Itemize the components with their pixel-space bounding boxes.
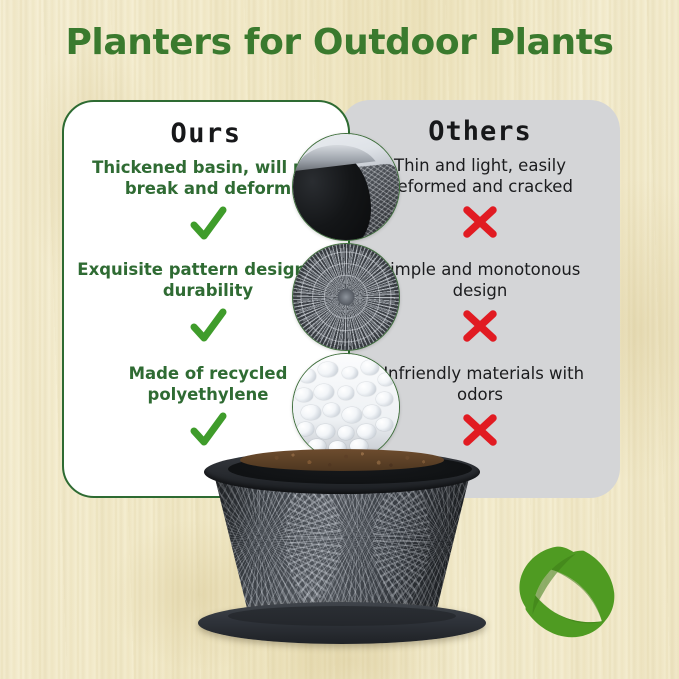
pellet [338, 386, 355, 400]
pellet [314, 384, 334, 400]
leaf-top-right [550, 551, 614, 624]
pot-saucer [198, 602, 486, 644]
pellet [318, 362, 337, 377]
infographic-canvas: Planters for Outdoor Plants Others Thin … [0, 0, 679, 679]
pellet [361, 360, 379, 375]
pellet [357, 424, 376, 439]
pellet [357, 382, 376, 397]
recycle-leaves-logo [509, 533, 627, 651]
weave-center [338, 289, 355, 306]
pellet [295, 388, 313, 402]
pellet [323, 403, 340, 417]
pellet [376, 418, 393, 432]
pellet [338, 426, 355, 440]
check-icon [185, 306, 231, 346]
detail-circle-weave-pattern [292, 243, 400, 351]
cross-icon [457, 306, 503, 346]
pellet [378, 373, 394, 386]
pellet [301, 405, 320, 420]
pot-saucer-well [228, 606, 456, 626]
pellet [363, 405, 381, 419]
pellet [299, 369, 316, 383]
pellet [297, 422, 314, 436]
pellet [316, 424, 335, 439]
product-planter [196, 444, 488, 652]
pot-soil [240, 449, 444, 471]
page-title: Planters for Outdoor Plants [0, 22, 679, 63]
check-icon [185, 204, 231, 244]
pellet [342, 367, 358, 380]
pellet [342, 407, 362, 423]
cross-icon [457, 202, 503, 242]
page-title-text: Planters for Outdoor Plants [65, 22, 613, 63]
pellet [376, 392, 393, 406]
detail-circle-thick-rim [292, 133, 400, 241]
